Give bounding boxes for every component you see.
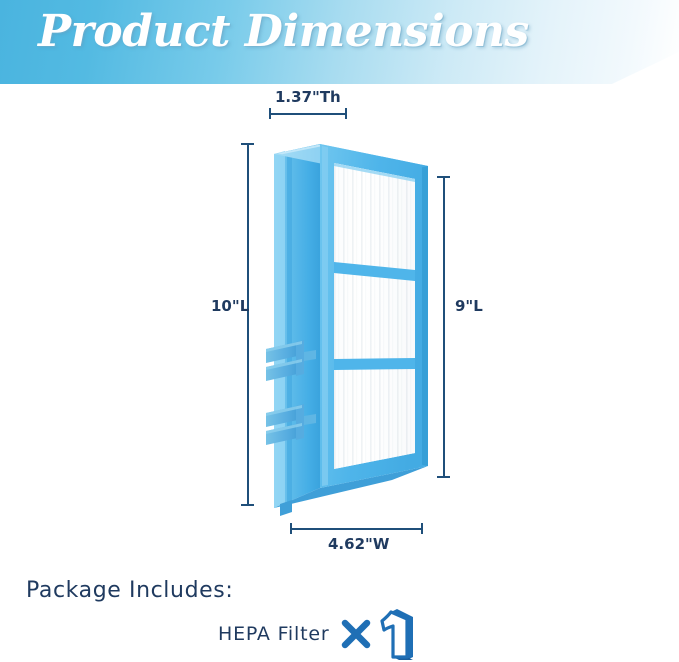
quantity-badge-1 bbox=[377, 606, 423, 662]
filter-media-shading bbox=[334, 163, 415, 469]
filter-side-wall-inner-edge bbox=[274, 151, 285, 508]
dimension-line-width bbox=[290, 528, 423, 530]
dimension-label-length-outer: 10"L bbox=[211, 297, 249, 315]
dimension-line-thickness bbox=[269, 113, 347, 115]
dimension-tick-left bbox=[269, 108, 271, 119]
package-item-label: HEPA Filter bbox=[218, 623, 329, 645]
dimension-tick-left bbox=[290, 523, 292, 534]
multiply-icon bbox=[339, 617, 373, 651]
package-item-row: HEPA Filter bbox=[218, 608, 423, 660]
header-banner: Product Dimensions bbox=[0, 0, 679, 84]
dimension-tick-top bbox=[241, 143, 254, 145]
filter-frame-right-edge-shade bbox=[422, 166, 428, 466]
quantity-face bbox=[382, 612, 407, 657]
dimension-line-length-outer bbox=[247, 143, 249, 506]
dimension-tick-right bbox=[421, 523, 423, 534]
filter-side-wall-groove bbox=[287, 150, 292, 505]
filter-frame-left-edge-highlight bbox=[322, 146, 328, 486]
product-image-hepa-filter bbox=[262, 136, 452, 516]
page-title: Product Dimensions bbox=[38, 6, 529, 57]
dimension-label-width: 4.62"W bbox=[328, 535, 389, 553]
package-includes-heading: Package Includes: bbox=[26, 578, 233, 603]
dimension-tick-right bbox=[345, 108, 347, 119]
filter-crossbar-lower bbox=[334, 358, 415, 370]
dimension-tick-bottom bbox=[241, 504, 254, 506]
dimension-label-length-inner: 9"L bbox=[455, 297, 483, 315]
dimension-label-thickness: 1.37"Th bbox=[275, 88, 341, 106]
